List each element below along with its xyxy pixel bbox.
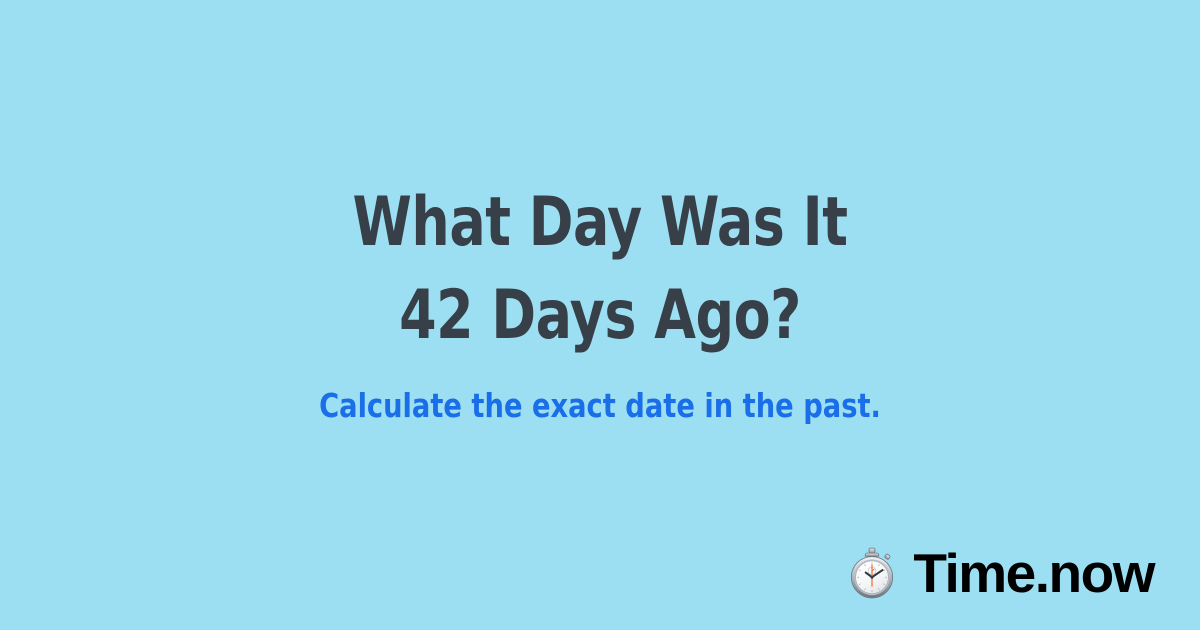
stopwatch-icon xyxy=(845,546,899,600)
page-title: What Day Was It 42 Days Ago? xyxy=(72,176,1128,362)
brand-name: Time.now xyxy=(913,544,1154,602)
share-card: What Day Was It 42 Days Ago? Calculate t… xyxy=(0,0,1200,630)
brand-logo: Time.now xyxy=(845,544,1154,602)
page-subtitle: Calculate the exact date in the past. xyxy=(48,385,1152,427)
page-title-line-1: What Day Was It xyxy=(72,176,1128,269)
page-title-line-2: 42 Days Ago? xyxy=(72,269,1128,362)
